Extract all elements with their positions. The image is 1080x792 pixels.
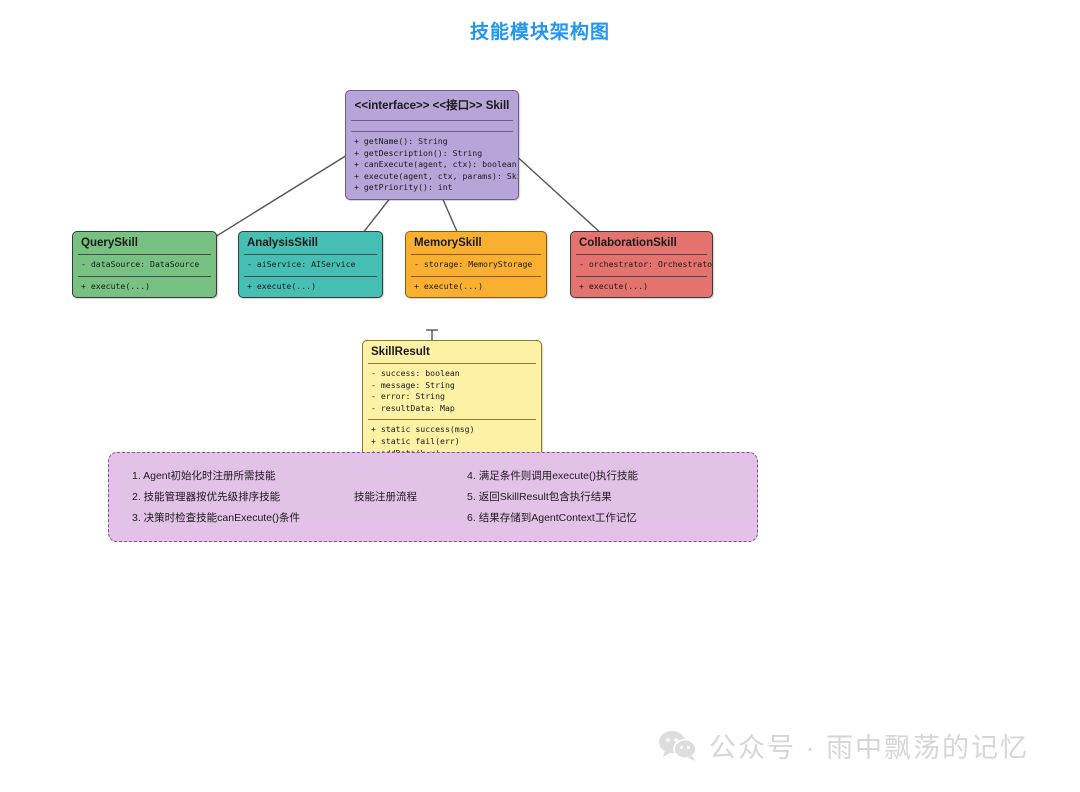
attribute-row: - message: String — [371, 380, 533, 392]
query-skill-box[interactable]: QuerySkill - dataSource: DataSource + ex… — [72, 231, 217, 298]
attribute-row: - dataSource: DataSource — [81, 259, 208, 271]
method-row: + canExecute(agent, ctx): boolean — [354, 159, 510, 171]
method-row: + execute(...) — [247, 281, 374, 293]
note-item: 3. 决策时检查技能canExecute()条件 — [132, 508, 300, 529]
attribute-row: - aiService: AIService — [247, 259, 374, 271]
analysis-skill-attributes: - aiService: AIService — [239, 255, 382, 276]
skill-interface-methods: + getName(): String + getDescription(): … — [346, 132, 518, 199]
method-row: + getName(): String — [354, 136, 510, 148]
analysis-skill-title: AnalysisSkill — [239, 232, 382, 254]
note-center-label: 技能注册流程 — [354, 487, 417, 508]
attribute-row: - orchestrator: Orchestrator — [579, 259, 704, 271]
watermark-text: 公众号 · 雨中飘荡的记忆 — [709, 726, 1029, 765]
query-skill-attributes: - dataSource: DataSource — [73, 255, 216, 276]
note-item: 2. 技能管理器按优先级排序技能 — [132, 487, 300, 508]
note-item: 5. 返回SkillResult包含执行结果 — [467, 487, 638, 508]
note-item: 1. Agent初始化时注册所需技能 — [132, 466, 300, 487]
collaboration-skill-title: CollaborationSkill — [571, 232, 712, 254]
memory-skill-box[interactable]: MemorySkill - storage: MemoryStorage + e… — [405, 231, 547, 298]
method-row: + static fail(err) — [371, 436, 533, 448]
page-title: 技能模块架构图 — [0, 17, 1080, 44]
method-row: + execute(agent, ctx, params): SkillResu… — [354, 171, 510, 183]
skill-interface-attributes — [346, 121, 518, 131]
method-row: + getPriority(): int — [354, 182, 510, 194]
method-row: + getDescription(): String — [354, 148, 510, 160]
method-row: + execute(...) — [579, 281, 704, 293]
collaboration-skill-box[interactable]: CollaborationSkill - orchestrator: Orche… — [570, 231, 713, 298]
diagram-canvas: 技能模块架构图 <<interface>> <<接口>> Skill + get… — [0, 0, 1080, 792]
attribute-row: - error: String — [371, 391, 533, 403]
note-item: 4. 满足条件则调用execute()执行技能 — [467, 466, 638, 487]
collaboration-skill-attributes: - orchestrator: Orchestrator — [571, 255, 712, 276]
analysis-skill-box[interactable]: AnalysisSkill - aiService: AIService + e… — [238, 231, 383, 298]
analysis-skill-methods: + execute(...) — [239, 277, 382, 298]
attribute-row: - resultData: Map — [371, 403, 533, 415]
collaboration-skill-methods: + execute(...) — [571, 277, 712, 298]
wechat-icon — [658, 729, 698, 763]
skill-registration-note[interactable]: 1. Agent初始化时注册所需技能 2. 技能管理器按优先级排序技能 3. 决… — [108, 452, 758, 542]
attribute-row: - storage: MemoryStorage — [414, 259, 538, 271]
memory-skill-title: MemorySkill — [406, 232, 546, 254]
attribute-row: - success: boolean — [371, 368, 533, 380]
method-row: + static success(msg) — [371, 424, 533, 436]
watermark: 公众号 · 雨中飘荡的记忆 — [658, 726, 1029, 765]
method-row: + execute(...) — [81, 281, 208, 293]
query-skill-methods: + execute(...) — [73, 277, 216, 298]
skill-result-title: SkillResult — [363, 341, 541, 363]
skill-interface-title: <<interface>> <<接口>> Skill — [346, 91, 518, 120]
note-right-column: 4. 满足条件则调用execute()执行技能 5. 返回SkillResult… — [467, 466, 638, 529]
memory-skill-methods: + execute(...) — [406, 277, 546, 298]
memory-skill-attributes: - storage: MemoryStorage — [406, 255, 546, 276]
method-row: + execute(...) — [414, 281, 538, 293]
query-skill-title: QuerySkill — [73, 232, 216, 254]
note-item: 6. 结果存储到AgentContext工作记忆 — [467, 508, 638, 529]
note-left-column: 1. Agent初始化时注册所需技能 2. 技能管理器按优先级排序技能 3. 决… — [132, 466, 300, 529]
skill-interface-box[interactable]: <<interface>> <<接口>> Skill + getName(): … — [345, 90, 519, 200]
skill-result-attributes: - success: boolean - message: String - e… — [363, 364, 541, 419]
skill-result-box[interactable]: SkillResult - success: boolean - message… — [362, 340, 542, 465]
